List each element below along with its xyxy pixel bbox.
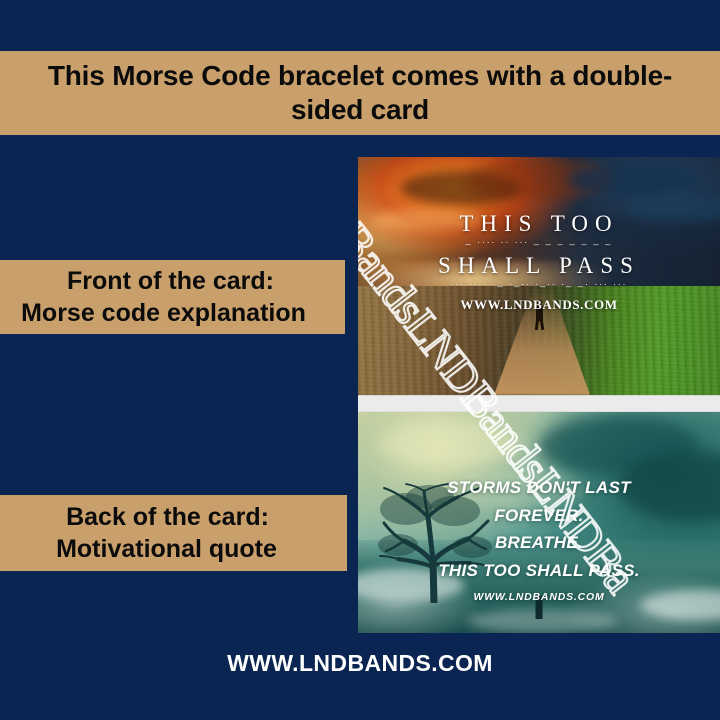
page-title: This Morse Code bracelet comes with a do…: [30, 59, 690, 126]
caption-front-line-2: Morse code explanation: [0, 297, 345, 329]
caption-box-back-of-card: Back of the card: Motivational quote: [0, 495, 347, 571]
caption-front-line-1: Front of the card:: [0, 265, 345, 297]
front-card-morse-1: _ .... .. ... _ _ _ _ _ _ _: [358, 236, 720, 245]
back-card-url: WWW.LNDBANDS.COM: [358, 591, 720, 603]
header-banner: This Morse Code bracelet comes with a do…: [0, 51, 720, 135]
back-card-line-3: BREATHE.: [358, 529, 720, 557]
card-separator-gap: [358, 395, 720, 412]
card-back-image: STORMS DON'T LAST FOREVER. BREATHE. THIS…: [358, 412, 720, 633]
caption-back-line-2: Motivational quote: [0, 533, 347, 565]
figure-leg-left: [535, 319, 539, 330]
front-card-text-block: THIS TOO _ .... .. ... _ _ _ _ _ _ _ SHA…: [358, 212, 720, 313]
card-image-stack: THIS TOO _ .... .. ... _ _ _ _ _ _ _ SHA…: [358, 157, 720, 633]
card-front-image: THIS TOO _ .... .. ... _ _ _ _ _ _ _ SHA…: [358, 157, 720, 395]
promo-graphic-canvas: This Morse Code bracelet comes with a do…: [0, 0, 720, 720]
figure-leg-right: [539, 319, 543, 330]
caption-box-front-of-card: Front of the card: Morse code explanatio…: [0, 260, 345, 334]
back-card-line-2: FOREVER.: [358, 502, 720, 530]
footer-url: WWW.LNDBANDS.COM: [0, 650, 720, 677]
front-cloud-3: [568, 164, 698, 196]
back-card-line-4: THIS TOO SHALL PASS.: [358, 557, 720, 585]
back-card-text-block: STORMS DON'T LAST FOREVER. BREATHE. THIS…: [358, 474, 720, 603]
front-card-url: WWW.LNDBANDS.COM: [358, 297, 720, 313]
front-card-line-1: THIS TOO: [358, 212, 720, 235]
caption-back-line-1: Back of the card:: [0, 501, 347, 533]
back-cloud-3: [380, 421, 520, 467]
front-card-line-2: SHALL PASS: [358, 254, 720, 277]
back-card-line-1: STORMS DON'T LAST: [358, 474, 720, 502]
front-card-morse-2: ... .... ._ ._.. ._.. ._ _. ... ...: [358, 278, 720, 287]
